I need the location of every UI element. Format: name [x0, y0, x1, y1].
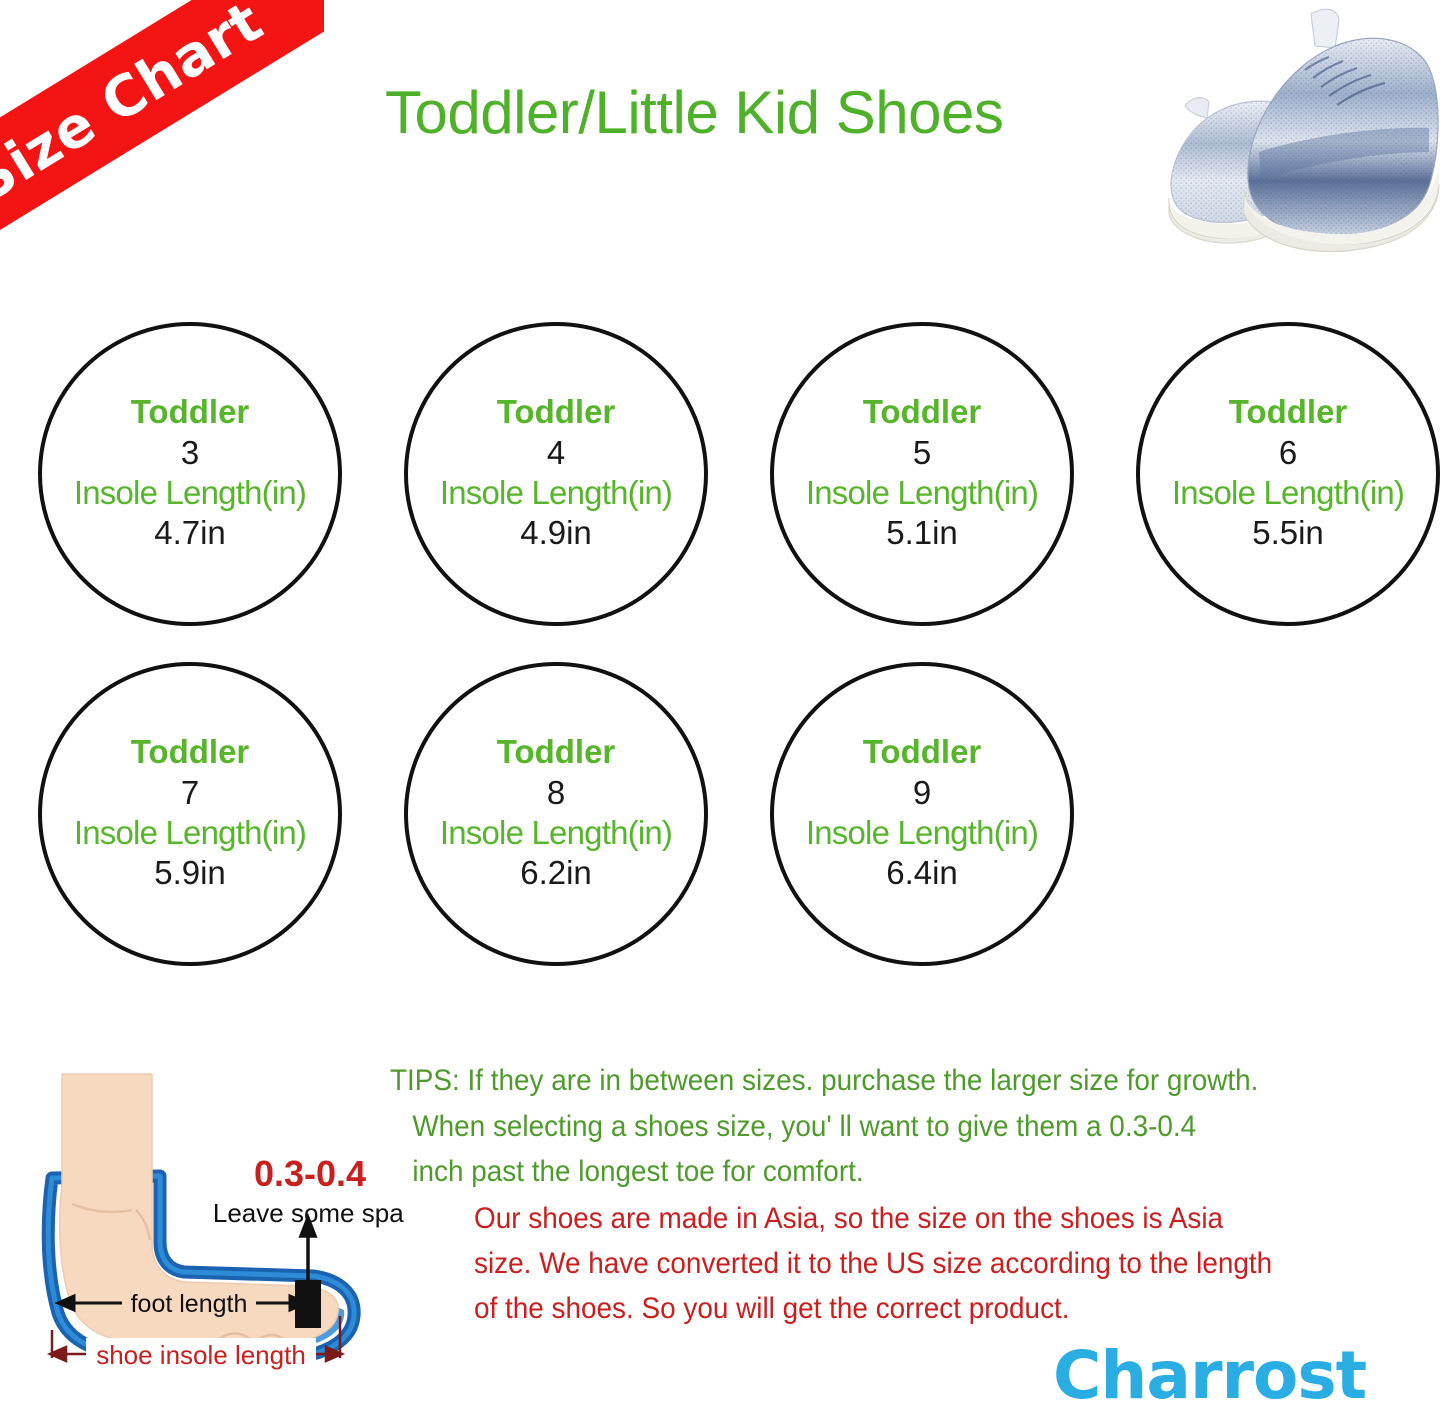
- size-circle-size: 3: [181, 432, 199, 473]
- gap-value-label: 0.3-0.4: [254, 1153, 366, 1194]
- size-circle-label: Toddler: [497, 393, 616, 432]
- size-circle-measure-label: Insole Length(in): [806, 473, 1038, 513]
- size-circle-measure-label: Insole Length(in): [1172, 473, 1404, 513]
- size-circle-size: 9: [913, 772, 931, 813]
- asia-note-line: of the shoes. So you will get the correc…: [474, 1286, 1367, 1331]
- tips-line: When selecting a shoes size, you' ll wan…: [390, 1104, 1353, 1150]
- size-circles-area: Toddler 3 Insole Length(in) 4.7in Toddle…: [0, 300, 1445, 1000]
- foot-measurement-diagram: 0.3-0.4 Leave some space foot length sho…: [14, 1058, 404, 1373]
- size-circle-measure-label: Insole Length(in): [806, 813, 1038, 853]
- size-circle-toddler-9: Toddler 9 Insole Length(in) 6.4in: [770, 662, 1074, 966]
- size-circle-measure-label: Insole Length(in): [74, 813, 306, 853]
- insole-length-label: shoe insole length: [96, 1340, 306, 1370]
- asia-size-note-block: Our shoes are made in Asia, so the size …: [474, 1196, 1434, 1331]
- size-chart-ribbon: Size Chart: [0, 0, 324, 264]
- size-circle-label: Toddler: [131, 733, 250, 772]
- size-circle-measure-label: Insole Length(in): [440, 813, 672, 853]
- size-circle-length: 6.4in: [886, 852, 958, 895]
- page-title: Toddler/Little Kid Shoes: [385, 78, 1085, 147]
- size-circle-measure-label: Insole Length(in): [74, 473, 306, 513]
- size-circle-toddler-5: Toddler 5 Insole Length(in) 5.1in: [770, 322, 1074, 626]
- size-circle-row-2: Toddler 7 Insole Length(in) 5.9in Toddle…: [38, 662, 1438, 982]
- size-circle-size: 5: [913, 432, 931, 473]
- size-circle-row-1: Toddler 3 Insole Length(in) 4.7in Toddle…: [38, 322, 1438, 642]
- tips-line: TIPS: If they are in between sizes. purc…: [390, 1058, 1353, 1104]
- size-circle-size: 4: [547, 432, 565, 473]
- size-circle-toddler-4: Toddler 4 Insole Length(in) 4.9in: [404, 322, 708, 626]
- size-circle-toddler-8: Toddler 8 Insole Length(in) 6.2in: [404, 662, 708, 966]
- size-circle-toddler-7: Toddler 7 Insole Length(in) 5.9in: [38, 662, 342, 966]
- brand-logo: Charrost: [1053, 1337, 1366, 1414]
- ribbon-label: Size Chart: [0, 0, 274, 215]
- tips-text-block: TIPS: If they are in between sizes. purc…: [390, 1058, 1425, 1195]
- size-circle-length: 4.9in: [520, 512, 592, 555]
- size-circle-length: 5.5in: [1252, 512, 1324, 555]
- tips-line: inch past the longest toe for comfort.: [390, 1149, 1353, 1195]
- size-circle-label: Toddler: [131, 393, 250, 432]
- size-circle-size: 6: [1279, 432, 1297, 473]
- size-circle-label: Toddler: [863, 733, 982, 772]
- size-circle-length: 4.7in: [154, 512, 226, 555]
- asia-note-line: Our shoes are made in Asia, so the size …: [474, 1196, 1367, 1241]
- size-circle-length: 6.2in: [520, 852, 592, 895]
- size-circle-measure-label: Insole Length(in): [440, 473, 672, 513]
- size-circle-toddler-3: Toddler 3 Insole Length(in) 4.7in: [38, 322, 342, 626]
- foot-length-label: foot length: [131, 1290, 248, 1318]
- size-circle-size: 7: [181, 772, 199, 813]
- size-circle-size: 8: [547, 772, 565, 813]
- size-circle-label: Toddler: [497, 733, 616, 772]
- size-circle-toddler-6: Toddler 6 Insole Length(in) 5.5in: [1136, 322, 1440, 626]
- size-circle-length: 5.9in: [154, 852, 226, 895]
- size-circle-label: Toddler: [863, 393, 982, 432]
- asia-note-line: size. We have converted it to the US siz…: [474, 1241, 1367, 1286]
- leave-space-caption: Leave some space: [213, 1198, 404, 1228]
- size-circle-length: 5.1in: [886, 512, 958, 555]
- size-circle-label: Toddler: [1229, 393, 1348, 432]
- toddler-knit-sneakers-photo: [1155, 2, 1443, 254]
- ribbon-band: Size Chart: [0, 0, 324, 264]
